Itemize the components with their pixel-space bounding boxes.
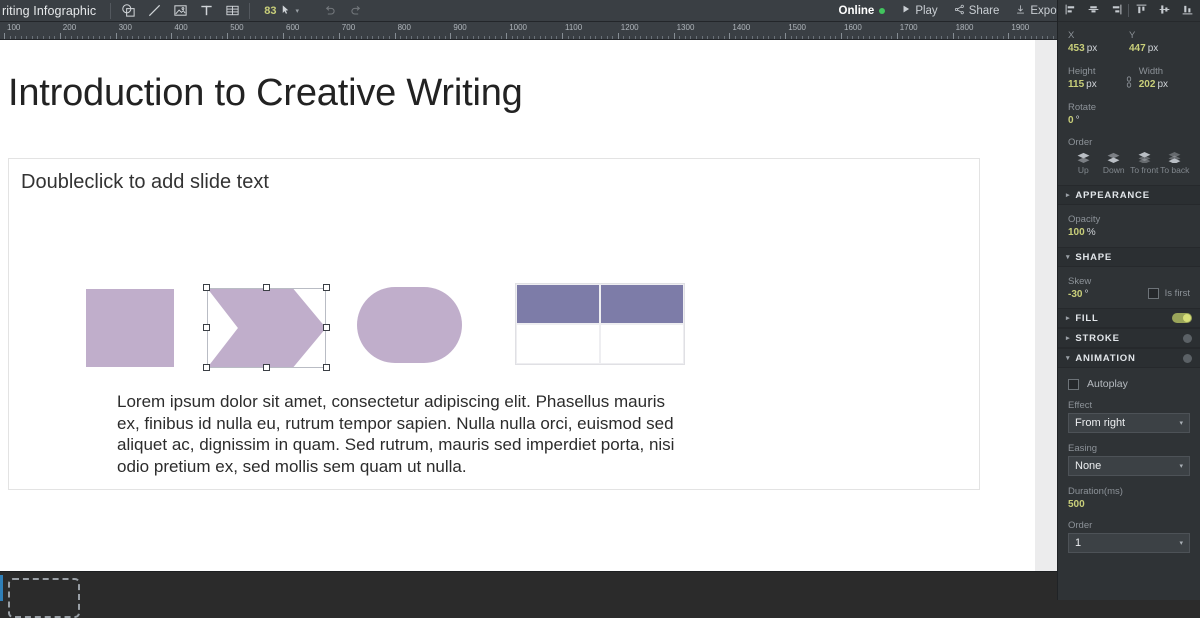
ruler-tick-minor [462, 36, 463, 39]
table-header-cell[interactable] [516, 284, 600, 324]
ruler-tick-minor [768, 36, 769, 39]
ruler-tick-minor [445, 36, 446, 39]
share-icon [954, 4, 965, 18]
ruler-tick-minor [757, 36, 758, 39]
ruler-tick-minor [272, 36, 273, 39]
ruler-tick-minor [863, 36, 864, 39]
y-field[interactable]: Y 447px [1129, 30, 1190, 54]
zoom-level-value: 83 [264, 5, 276, 17]
ruler-tick-major [450, 33, 451, 39]
ruler-tick-major [506, 33, 507, 39]
chevron-down-icon: ▾ [1179, 419, 1183, 427]
ruler-tick-minor [930, 36, 931, 39]
ruler-tick-minor [662, 36, 663, 39]
ruler-tick-minor [830, 36, 831, 39]
ruler-tick-minor [434, 36, 435, 39]
align-center-h-icon [1087, 3, 1100, 19]
appearance-group: Opacity 100% [1058, 205, 1200, 247]
ruler-tick-minor [702, 36, 703, 39]
ruler-tick-minor [752, 36, 753, 39]
fill-section-header[interactable]: ▸ FILL [1058, 308, 1200, 328]
ruler-tick-minor [568, 36, 569, 39]
ruler-tick-minor [166, 36, 167, 39]
appearance-section-label: APPEARANCE [1075, 190, 1150, 201]
animation-section-header[interactable]: ▾ ANIMATION [1058, 348, 1200, 368]
ruler-tick-minor [65, 36, 66, 39]
online-status-dot [879, 8, 885, 14]
ruler-tick-minor [997, 36, 998, 39]
history-controls [317, 1, 369, 21]
width-label: Width [1139, 66, 1190, 77]
chevron-right-icon: ▸ [1066, 191, 1070, 199]
ruler-tick-minor [925, 36, 926, 39]
height-field[interactable]: Height 115px [1068, 66, 1119, 90]
ruler-tick-minor [640, 36, 641, 39]
resize-handle-ne[interactable] [323, 284, 330, 291]
ruler-tick-major [674, 33, 675, 39]
ruler-tick-minor [986, 36, 987, 39]
ruler-tick-minor [294, 36, 295, 39]
ruler-tick-minor [891, 36, 892, 39]
order-front-label: To front [1129, 165, 1160, 175]
animation-toggle[interactable] [1183, 354, 1192, 363]
slide-thumbnail-strip[interactable] [0, 571, 1057, 600]
properties-panel: X 453px Y 447px Height 115px Width 202px [1057, 0, 1200, 600]
shape-group: Skew -30° Is first [1058, 267, 1200, 308]
ruler-tick-minor [372, 36, 373, 39]
ruler-tick-minor [104, 36, 105, 39]
image-tool-button[interactable] [167, 1, 193, 21]
ruler-label: 800 [398, 23, 411, 32]
resize-handle-w[interactable] [203, 324, 210, 331]
ruler-tick-minor [696, 36, 697, 39]
ruler-tick-minor [808, 36, 809, 39]
ruler-tick-minor [992, 36, 993, 39]
align-middle-vertical-button[interactable] [1153, 1, 1176, 21]
width-field[interactable]: Width 202px [1139, 66, 1190, 90]
xy-row: X 453px Y 447px [1068, 30, 1190, 54]
ruler-tick-minor [289, 36, 290, 39]
ruler-tick-minor [690, 36, 691, 39]
ruler-tick-minor [534, 36, 535, 39]
ruler-tick-minor [651, 36, 652, 39]
ruler-tick-minor [623, 36, 624, 39]
animation-order-select[interactable]: 1 ▾ [1068, 533, 1190, 553]
table-body-cell[interactable] [516, 324, 600, 364]
zoom-caret-icon[interactable]: ▾ [295, 7, 299, 15]
ruler-label: 1000 [509, 23, 527, 32]
ruler-tick-minor [914, 36, 915, 39]
horizontal-ruler: 1002003004005006007008009001000110012001… [0, 22, 1057, 40]
chevron-down-icon: ▾ [1179, 462, 1183, 470]
ruler-tick-minor [1025, 36, 1026, 39]
order-up-label: Up [1068, 165, 1099, 175]
ruler-tick-minor [947, 36, 948, 39]
ruler-tick-minor [277, 36, 278, 39]
ruler-tick-minor [545, 36, 546, 39]
add-slide-placeholder[interactable] [8, 578, 80, 618]
order-back-icon [1160, 152, 1191, 163]
ruler-tick-minor [902, 36, 903, 39]
y-value: 447px [1129, 43, 1190, 54]
duration-label: Duration(ms) [1068, 486, 1190, 497]
effect-select[interactable]: From right ▾ [1068, 413, 1190, 433]
ruler-tick-minor [880, 36, 881, 39]
easing-label: Easing [1068, 443, 1190, 454]
align-left-icon [1064, 3, 1077, 19]
order-back-button[interactable]: To back [1160, 152, 1191, 175]
animation-section-label: ANIMATION [1075, 353, 1135, 364]
ruler-tick-minor [540, 36, 541, 39]
shape-square[interactable] [86, 289, 174, 367]
ruler-tick-minor [478, 36, 479, 39]
align-center-horizontal-button[interactable] [1082, 1, 1105, 21]
zoom-control[interactable]: 83 ▾ [264, 4, 299, 18]
ruler-tick-minor [43, 36, 44, 39]
ruler-tick-minor [367, 36, 368, 39]
ruler-tick-minor [205, 36, 206, 39]
ruler-tick-major [841, 33, 842, 39]
ruler-tick-minor [1020, 36, 1021, 39]
rotate-value: 0° [1068, 115, 1190, 126]
ruler-tick-major [395, 33, 396, 39]
position-group: X 453px Y 447px Height 115px Width 202px [1058, 22, 1200, 177]
play-icon [901, 4, 911, 17]
easing-value: None [1075, 460, 1101, 472]
ruler-tick-major [339, 33, 340, 39]
skew-value: -30° [1068, 289, 1091, 300]
width-value: 202px [1139, 79, 1190, 90]
ruler-tick-minor [780, 36, 781, 39]
ruler-tick-minor [869, 36, 870, 39]
ruler-tick-minor [233, 36, 234, 39]
order-front-icon [1129, 152, 1160, 163]
fill-section-label: FILL [1075, 313, 1098, 324]
align-right-button[interactable] [1105, 1, 1128, 21]
slide-content-box[interactable]: Doubleclick to add slide text Lorem ipsu… [8, 158, 980, 490]
resize-handle-n[interactable] [263, 284, 270, 291]
shape-rounded-rectangle[interactable] [357, 287, 462, 363]
ruler-tick-minor [244, 36, 245, 39]
ruler-tick-minor [311, 36, 312, 39]
ruler-tick-minor [77, 36, 78, 39]
ruler-tick-minor [99, 36, 100, 39]
ruler-tick-minor [144, 36, 145, 39]
ruler-tick-minor [1031, 36, 1032, 39]
play-label: Play [915, 5, 937, 17]
table-icon [225, 3, 240, 18]
ruler-tick-minor [886, 36, 887, 39]
ruler-tick-minor [824, 36, 825, 39]
alignment-toolbar [1058, 0, 1200, 22]
ruler-tick-minor [160, 36, 161, 39]
table-tool-button[interactable] [219, 1, 245, 21]
link-ratio-icon[interactable] [1119, 66, 1139, 90]
x-field[interactable]: X 453px [1068, 30, 1129, 54]
ruler-tick-minor [1003, 36, 1004, 39]
shape-chevron-selected[interactable] [203, 284, 330, 372]
ruler-tick-minor [423, 36, 424, 39]
ruler-tick-minor [1053, 36, 1054, 39]
ruler-tick-minor [49, 36, 50, 39]
ruler-tick-minor [657, 36, 658, 39]
ruler-tick-major [4, 33, 5, 39]
alignment-divider [1128, 4, 1129, 17]
ruler-tick-minor [71, 36, 72, 39]
play-button[interactable]: Play [894, 2, 944, 19]
ruler-tick-minor [802, 36, 803, 39]
ruler-tick-major [618, 33, 619, 39]
ruler-tick-minor [975, 36, 976, 39]
ruler-tick-minor [210, 36, 211, 39]
ruler-label: 600 [286, 23, 299, 32]
ruler-tick-minor [835, 36, 836, 39]
skew-field[interactable]: Skew -30° [1068, 276, 1091, 300]
ruler-tick-minor [261, 36, 262, 39]
ruler-label: 900 [453, 23, 466, 32]
ruler-tick-minor [316, 36, 317, 39]
fill-toggle[interactable] [1172, 313, 1192, 323]
share-button[interactable]: Share [947, 2, 1007, 20]
ruler-tick-major [227, 33, 228, 39]
ruler-tick-major [1008, 33, 1009, 39]
slide-canvas[interactable]: Introduction to Creative Writing Doublec… [0, 40, 1057, 571]
ruler-tick-minor [132, 36, 133, 39]
ruler-tick-minor [417, 36, 418, 39]
ruler-tick-major [953, 33, 954, 39]
shape-section-header[interactable]: ▾ SHAPE [1058, 247, 1200, 267]
ruler-tick-minor [735, 36, 736, 39]
ruler-tick-minor [32, 36, 33, 39]
y-label: Y [1129, 30, 1190, 41]
ruler-tick-minor [222, 36, 223, 39]
order-back-label: To back [1160, 165, 1191, 175]
ruler-tick-minor [456, 36, 457, 39]
ruler-tick-minor [936, 36, 937, 39]
opacity-value[interactable]: 100% [1068, 227, 1190, 238]
ruler-tick-minor [713, 36, 714, 39]
ruler-label: 1800 [956, 23, 974, 32]
shape-table[interactable] [515, 283, 685, 365]
ruler-tick-minor [389, 36, 390, 39]
ruler-tick-minor [21, 36, 22, 39]
ruler-tick-minor [584, 36, 585, 39]
ruler-tick-minor [847, 36, 848, 39]
zoom-pointer-icon [280, 4, 291, 18]
image-icon [173, 3, 188, 18]
ruler-label: 100 [7, 23, 20, 32]
ruler-tick-major [116, 33, 117, 39]
ruler-tick-minor [383, 36, 384, 39]
slide-body-text[interactable]: Lorem ipsum dolor sit amet, consectetur … [117, 391, 677, 477]
share-label: Share [969, 5, 1000, 17]
ruler-tick-minor [629, 36, 630, 39]
text-tool-button[interactable] [193, 1, 219, 21]
ruler-tick-minor [467, 36, 468, 39]
ruler-tick-major [60, 33, 61, 39]
export-icon [1015, 4, 1026, 18]
ruler-tick-minor [121, 36, 122, 39]
ruler-tick-minor [819, 36, 820, 39]
align-left-button[interactable] [1059, 1, 1082, 21]
animation-order-label: Order [1068, 520, 1190, 531]
resize-handle-e[interactable] [323, 324, 330, 331]
online-status: Online [832, 3, 893, 19]
shapes-tool-button[interactable] [115, 1, 141, 21]
resize-handle-sw[interactable] [203, 364, 210, 371]
ruler-tick-major [171, 33, 172, 39]
slide-subtitle-placeholder[interactable]: Doubleclick to add slide text [21, 171, 269, 194]
ruler-label: 1100 [565, 23, 582, 32]
ruler-tick-minor [238, 36, 239, 39]
ruler-tick-minor [439, 36, 440, 39]
chevron-right-icon: ▸ [1066, 334, 1070, 342]
ruler-tick-minor [668, 36, 669, 39]
ruler-tick-minor [607, 36, 608, 39]
appearance-section-header[interactable]: ▸ APPEARANCE [1058, 185, 1200, 205]
ruler-tick-minor [361, 36, 362, 39]
table-body-cell[interactable] [600, 324, 684, 364]
ruler-tick-minor [718, 36, 719, 39]
text-icon [199, 3, 214, 18]
ruler-tick-minor [556, 36, 557, 39]
undo-button[interactable] [317, 1, 343, 21]
ruler-tick-minor [473, 36, 474, 39]
resize-handle-nw[interactable] [203, 284, 210, 291]
ruler-tick-minor [333, 36, 334, 39]
selection-bounding-box [207, 288, 326, 368]
align-bottom-button[interactable] [1176, 1, 1199, 21]
ruler-tick-minor [919, 36, 920, 39]
ruler-label: 1600 [844, 23, 862, 32]
duration-value[interactable]: 500 [1068, 499, 1190, 510]
ruler-label: 400 [174, 23, 187, 32]
ruler-tick-major [729, 33, 730, 39]
height-label: Height [1068, 66, 1119, 77]
stroke-section-header[interactable]: ▸ STROKE [1058, 328, 1200, 348]
chevron-down-icon: ▾ [1066, 354, 1070, 362]
autoplay-row: Autoplay [1058, 368, 1200, 392]
ruler-tick-minor [93, 36, 94, 39]
effect-group: Effect From right ▾ [1058, 392, 1200, 435]
ruler-tick-minor [746, 36, 747, 39]
x-label: X [1068, 30, 1129, 41]
ruler-tick-minor [88, 36, 89, 39]
online-status-label: Online [839, 5, 875, 17]
ruler-tick-minor [194, 36, 195, 39]
canvas-right-gutter [1035, 40, 1057, 571]
autoplay-checkbox[interactable] [1068, 379, 1079, 390]
order-up-button[interactable]: Up [1068, 152, 1099, 175]
order-front-button[interactable]: To front [1129, 152, 1160, 175]
easing-select[interactable]: None ▾ [1068, 456, 1190, 476]
ruler-tick-minor [551, 36, 552, 39]
ruler-label: 500 [230, 23, 243, 32]
ruler-tick-minor [529, 36, 530, 39]
stroke-section-label: STROKE [1075, 333, 1119, 344]
redo-icon [349, 4, 363, 18]
ruler-tick-minor [155, 36, 156, 39]
align-top-button[interactable] [1130, 1, 1153, 21]
slide-title[interactable]: Introduction to Creative Writing [8, 72, 523, 115]
opacity-label: Opacity [1068, 214, 1190, 225]
ruler-tick-minor [484, 36, 485, 39]
ruler-tick-minor [177, 36, 178, 39]
duration-group: Duration(ms) 500 [1058, 478, 1200, 512]
shape-section-label: SHAPE [1075, 252, 1112, 263]
ruler-tick-minor [874, 36, 875, 39]
ruler-tick-major [562, 33, 563, 39]
ruler-tick-minor [400, 36, 401, 39]
ruler-tick-minor [813, 36, 814, 39]
height-value: 115px [1068, 79, 1119, 90]
ruler-tick-minor [908, 36, 909, 39]
top-toolbar: riting Infographic [0, 0, 1200, 22]
stroke-toggle[interactable] [1183, 334, 1192, 343]
resize-handle-s[interactable] [263, 364, 270, 371]
toolbar-divider [110, 3, 111, 19]
order-down-label: Down [1099, 165, 1130, 175]
ruler-tick-minor [796, 36, 797, 39]
ruler-tick-minor [1047, 36, 1048, 39]
chevron-right-icon: ▸ [1066, 314, 1070, 322]
resize-handle-se[interactable] [323, 364, 330, 371]
ruler-tick-minor [350, 36, 351, 39]
ruler-tick-minor [255, 36, 256, 39]
ruler-tick-minor [969, 36, 970, 39]
ruler-tick-minor [54, 36, 55, 39]
order-down-button[interactable]: Down [1099, 152, 1130, 175]
rotate-field[interactable]: Rotate 0° [1068, 102, 1190, 126]
ruler-tick-minor [188, 36, 189, 39]
ruler-tick-minor [250, 36, 251, 39]
ruler-tick-minor [138, 36, 139, 39]
ruler-tick-minor [300, 36, 301, 39]
ruler-tick-minor [646, 36, 647, 39]
ruler-tick-minor [110, 36, 111, 39]
line-tool-button[interactable] [141, 1, 167, 21]
ruler-label: 1200 [621, 23, 639, 32]
ruler-tick-minor [858, 36, 859, 39]
ruler-tick-minor [852, 36, 853, 39]
ruler-tick-minor [82, 36, 83, 39]
animation-order-value: 1 [1075, 537, 1081, 549]
ruler-tick-minor [612, 36, 613, 39]
ruler-tick-minor [590, 36, 591, 39]
ruler-tick-major [897, 33, 898, 39]
ruler-tick-minor [305, 36, 306, 39]
ruler-tick-minor [958, 36, 959, 39]
ruler-tick-minor [523, 36, 524, 39]
ruler-tick-minor [964, 36, 965, 39]
document-title[interactable]: riting Infographic [0, 4, 106, 18]
ruler-tick-minor [685, 36, 686, 39]
ruler-tick-major [283, 33, 284, 39]
ruler-tick-minor [489, 36, 490, 39]
ruler-tick-minor [1014, 36, 1015, 39]
ruler-tick-minor [127, 36, 128, 39]
ruler-tick-minor [328, 36, 329, 39]
ruler-tick-minor [1036, 36, 1037, 39]
table-header-cell[interactable] [600, 284, 684, 324]
order-down-icon [1099, 152, 1130, 163]
is-first-checkbox[interactable] [1148, 288, 1159, 299]
chevron-down-icon: ▾ [1179, 539, 1183, 547]
ruler-tick-minor [495, 36, 496, 39]
ruler-tick-minor [15, 36, 16, 39]
is-first-label: Is first [1165, 288, 1190, 299]
redo-button[interactable] [343, 1, 369, 21]
